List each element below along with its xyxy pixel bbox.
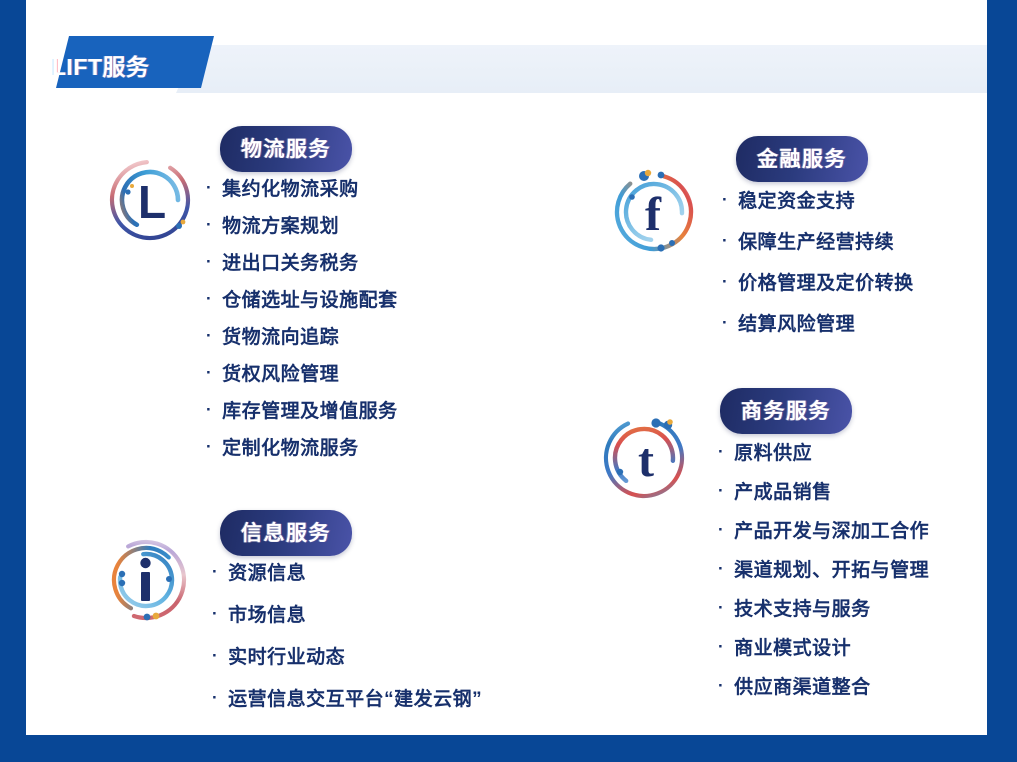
list-item: ·集约化物流采购 bbox=[206, 174, 398, 211]
list-item: ·货权风险管理 bbox=[206, 359, 398, 396]
list-item-label: 定制化物流服务 bbox=[222, 433, 359, 460]
bullet-icon: · bbox=[718, 482, 724, 499]
list-item: ·结算风险管理 bbox=[722, 309, 914, 350]
list-item: ·实时行业动态 bbox=[212, 642, 482, 684]
list-item-label: 渠道规划、开拓与管理 bbox=[734, 555, 929, 582]
list-item-label: 产成品销售 bbox=[734, 477, 832, 504]
pill-shape: 物流服务 bbox=[220, 126, 352, 172]
bullet-icon: · bbox=[718, 443, 724, 460]
bullet-icon: · bbox=[718, 599, 724, 616]
bullet-icon: · bbox=[722, 191, 728, 208]
list-item-label: 资源信息 bbox=[228, 558, 306, 585]
letter-i-ring-icon bbox=[98, 532, 194, 628]
bullet-icon: · bbox=[718, 677, 724, 694]
frame-accent-right bbox=[987, 0, 1017, 762]
list-item-label: 实时行业动态 bbox=[228, 642, 345, 669]
list-business: ·原料供应 ·产成品销售 ·产品开发与深加工合作 ·渠道规划、开拓与管理 ·技术… bbox=[718, 438, 929, 711]
list-logistics: ·集约化物流采购 ·物流方案规划 ·进出口关务税务 ·仓储选址与设施配套 ·货物… bbox=[206, 174, 398, 470]
frame-accent-left bbox=[0, 0, 26, 762]
list-item-label: 价格管理及定价转换 bbox=[738, 268, 914, 295]
bullet-icon: · bbox=[206, 327, 212, 344]
bullet-icon: · bbox=[722, 273, 728, 290]
bullet-icon: · bbox=[212, 689, 218, 706]
pill-label: 商务服务 bbox=[741, 400, 831, 423]
list-item: ·原料供应 bbox=[718, 438, 929, 477]
pill-shape: 金融服务 bbox=[736, 136, 868, 182]
list-item: ·价格管理及定价转换 bbox=[722, 268, 914, 309]
bullet-icon: · bbox=[206, 438, 212, 455]
bullet-icon: · bbox=[212, 563, 218, 580]
list-item: ·仓储选址与设施配套 bbox=[206, 285, 398, 322]
list-item: ·技术支持与服务 bbox=[718, 594, 929, 633]
list-finance: ·稳定资金支持 ·保障生产经营持续 ·价格管理及定价转换 ·结算风险管理 bbox=[722, 186, 914, 350]
list-item-label: 市场信息 bbox=[228, 600, 306, 627]
header: 终端服务 LIFT服务 bbox=[26, 36, 987, 98]
bullet-icon: · bbox=[206, 253, 212, 270]
group-title-logistics: 物流服务 bbox=[220, 126, 352, 172]
header-title: LIFT服务 bbox=[52, 48, 150, 82]
list-item-label: 货物流向追踪 bbox=[222, 322, 339, 349]
list-item: ·商业模式设计 bbox=[718, 633, 929, 672]
list-item-label: 稳定资金支持 bbox=[738, 186, 855, 213]
bullet-icon: · bbox=[722, 314, 728, 331]
list-item-label: 仓储选址与设施配套 bbox=[222, 285, 398, 312]
list-item-label: 库存管理及增值服务 bbox=[222, 396, 398, 423]
list-item: ·货物流向追踪 bbox=[206, 322, 398, 359]
list-item-label: 原料供应 bbox=[734, 438, 812, 465]
bullet-icon: · bbox=[718, 638, 724, 655]
list-item: ·渠道规划、开拓与管理 bbox=[718, 555, 929, 594]
frame-accent-bottom bbox=[0, 735, 1017, 762]
header-band bbox=[176, 45, 987, 93]
list-item-label: 商业模式设计 bbox=[734, 633, 851, 660]
list-item: ·定制化物流服务 bbox=[206, 433, 398, 470]
list-item: ·产品开发与深加工合作 bbox=[718, 516, 929, 555]
list-item: ·稳定资金支持 bbox=[722, 186, 914, 227]
bullet-icon: · bbox=[206, 290, 212, 307]
slide-canvas: 终端服务 LIFT服务 bbox=[26, 0, 987, 735]
group-title-info: 信息服务 bbox=[220, 510, 352, 556]
letter-f-ring-icon: f bbox=[606, 164, 702, 260]
group-title-business: 商务服务 bbox=[720, 388, 852, 434]
pill-label: 金融服务 bbox=[757, 148, 847, 171]
bullet-icon: · bbox=[206, 364, 212, 381]
list-item: ·进出口关务税务 bbox=[206, 248, 398, 285]
list-item: ·市场信息 bbox=[212, 600, 482, 642]
list-item-label: 物流方案规划 bbox=[222, 211, 339, 238]
list-item-label: 结算风险管理 bbox=[738, 309, 855, 336]
bullet-icon: · bbox=[722, 232, 728, 249]
bullet-icon: · bbox=[206, 401, 212, 418]
svg-text:t: t bbox=[638, 434, 654, 487]
pill-shape: 商务服务 bbox=[720, 388, 852, 434]
bullet-icon: · bbox=[718, 560, 724, 577]
bullet-icon: · bbox=[206, 179, 212, 196]
bullet-icon: · bbox=[718, 521, 724, 538]
pill-label: 物流服务 bbox=[241, 138, 331, 161]
list-item: ·物流方案规划 bbox=[206, 211, 398, 248]
list-item: ·库存管理及增值服务 bbox=[206, 396, 398, 433]
list-item: ·保障生产经营持续 bbox=[722, 227, 914, 268]
bullet-icon: · bbox=[212, 605, 218, 622]
list-item: ·资源信息 bbox=[212, 558, 482, 600]
letter-t-ring-icon: t bbox=[596, 410, 692, 506]
list-item-label: 货权风险管理 bbox=[222, 359, 339, 386]
list-item-label: 供应商渠道整合 bbox=[734, 672, 871, 699]
group-title-finance: 金融服务 bbox=[736, 136, 868, 182]
list-item-label: 技术支持与服务 bbox=[734, 594, 871, 621]
list-item-label: 保障生产经营持续 bbox=[738, 227, 894, 254]
svg-text:L: L bbox=[138, 176, 166, 228]
pill-shape: 信息服务 bbox=[220, 510, 352, 556]
pill-label: 信息服务 bbox=[241, 522, 331, 545]
list-item-label: 运营信息交互平台“建发云钢” bbox=[228, 684, 482, 711]
list-item-label: 集约化物流采购 bbox=[222, 174, 359, 201]
list-item: ·产成品销售 bbox=[718, 477, 929, 516]
slide-root: 终端服务 LIFT服务 bbox=[0, 0, 1017, 762]
list-item-label: 进出口关务税务 bbox=[222, 248, 359, 275]
bullet-icon: · bbox=[212, 647, 218, 664]
list-info: ·资源信息 ·市场信息 ·实时行业动态 ·运营信息交互平台“建发云钢” bbox=[212, 558, 482, 726]
list-item: ·运营信息交互平台“建发云钢” bbox=[212, 684, 482, 726]
bullet-icon: · bbox=[206, 216, 212, 233]
svg-text:f: f bbox=[645, 188, 662, 241]
letter-l-ring-icon: L bbox=[102, 152, 198, 248]
list-item-label: 产品开发与深加工合作 bbox=[734, 516, 929, 543]
list-item: ·供应商渠道整合 bbox=[718, 672, 929, 711]
